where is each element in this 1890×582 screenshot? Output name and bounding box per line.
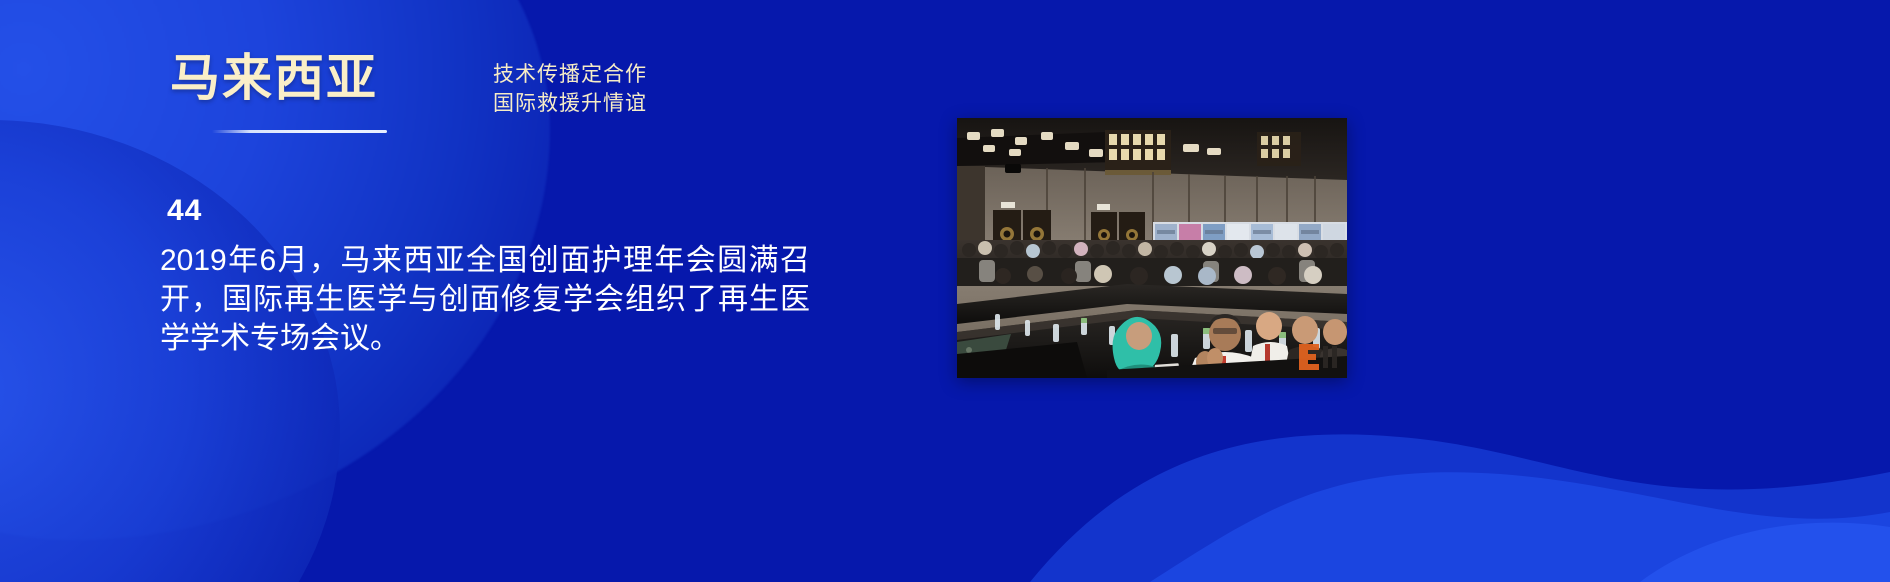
subtitle-block: 技术传播定合作 国际救援升情谊	[460, 60, 680, 118]
body-paragraph: 2019年6月，马来西亚全国创面护理年会圆满召开，国际再生医学与创面修复学会组织…	[160, 241, 810, 358]
title-underline-accent	[212, 130, 387, 133]
conference-photo-image	[957, 118, 1347, 378]
conference-photo	[957, 118, 1347, 378]
subtitle-line-1: 技术传播定合作	[460, 60, 680, 89]
presentation-slide: 马来西亚 技术传播定合作 国际救援升情谊 44 2019年6月，马来西亚全国创面…	[0, 0, 1890, 582]
wave-shapes-bottom-right	[0, 322, 1890, 582]
title-block: 马来西亚	[170, 52, 378, 105]
item-index-number: 44	[167, 194, 202, 228]
page-title: 马来西亚	[170, 52, 378, 105]
subtitle-line-2: 国际救援升情谊	[460, 89, 680, 118]
